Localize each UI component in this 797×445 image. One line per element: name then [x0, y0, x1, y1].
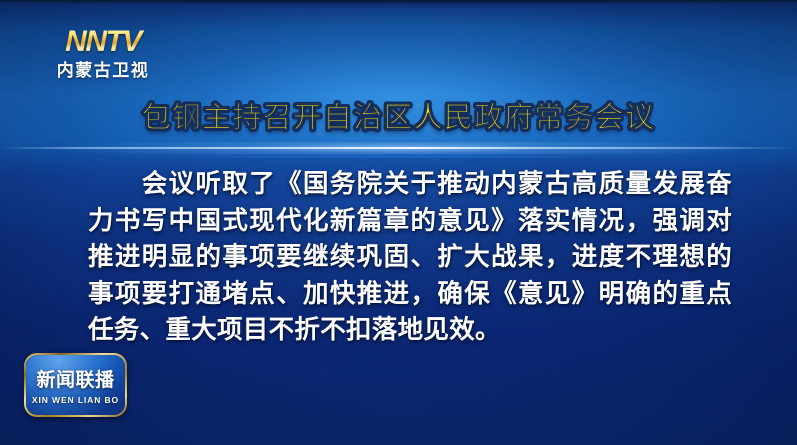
program-badge: 新闻联播 XIN WEN LIAN BO [24, 353, 127, 417]
program-badge-title: 新闻联播 [36, 365, 114, 392]
headline-divider [0, 140, 797, 158]
program-badge-text: 新闻联播 XIN WEN LIAN BO [26, 355, 125, 415]
program-badge-inner: 新闻联播 XIN WEN LIAN BO [26, 355, 125, 415]
channel-logo-name: 内蒙古卫视 [47, 62, 159, 79]
body-text: 会议听取了《国务院关于推动内蒙古高质量发展奋力书写中国式现代化新篇章的意见》落实… [88, 166, 732, 349]
top-edge-band [0, 0, 797, 5]
channel-logo-mark: NNTV [47, 27, 159, 57]
channel-logo: NNTV 内蒙古卫视 [47, 27, 159, 79]
headline-title: 包钢主持召开自治区人民政府常务会议 [0, 94, 797, 136]
broadcast-frame: NNTV 内蒙古卫视 包钢主持召开自治区人民政府常务会议 会议听取了《国务院关于… [0, 0, 797, 445]
program-badge-pinyin: XIN WEN LIAN BO [32, 395, 119, 405]
body-paragraph: 会议听取了《国务院关于推动内蒙古高质量发展奋力书写中国式现代化新篇章的意见》落实… [88, 166, 732, 349]
divider-line [0, 147, 797, 149]
